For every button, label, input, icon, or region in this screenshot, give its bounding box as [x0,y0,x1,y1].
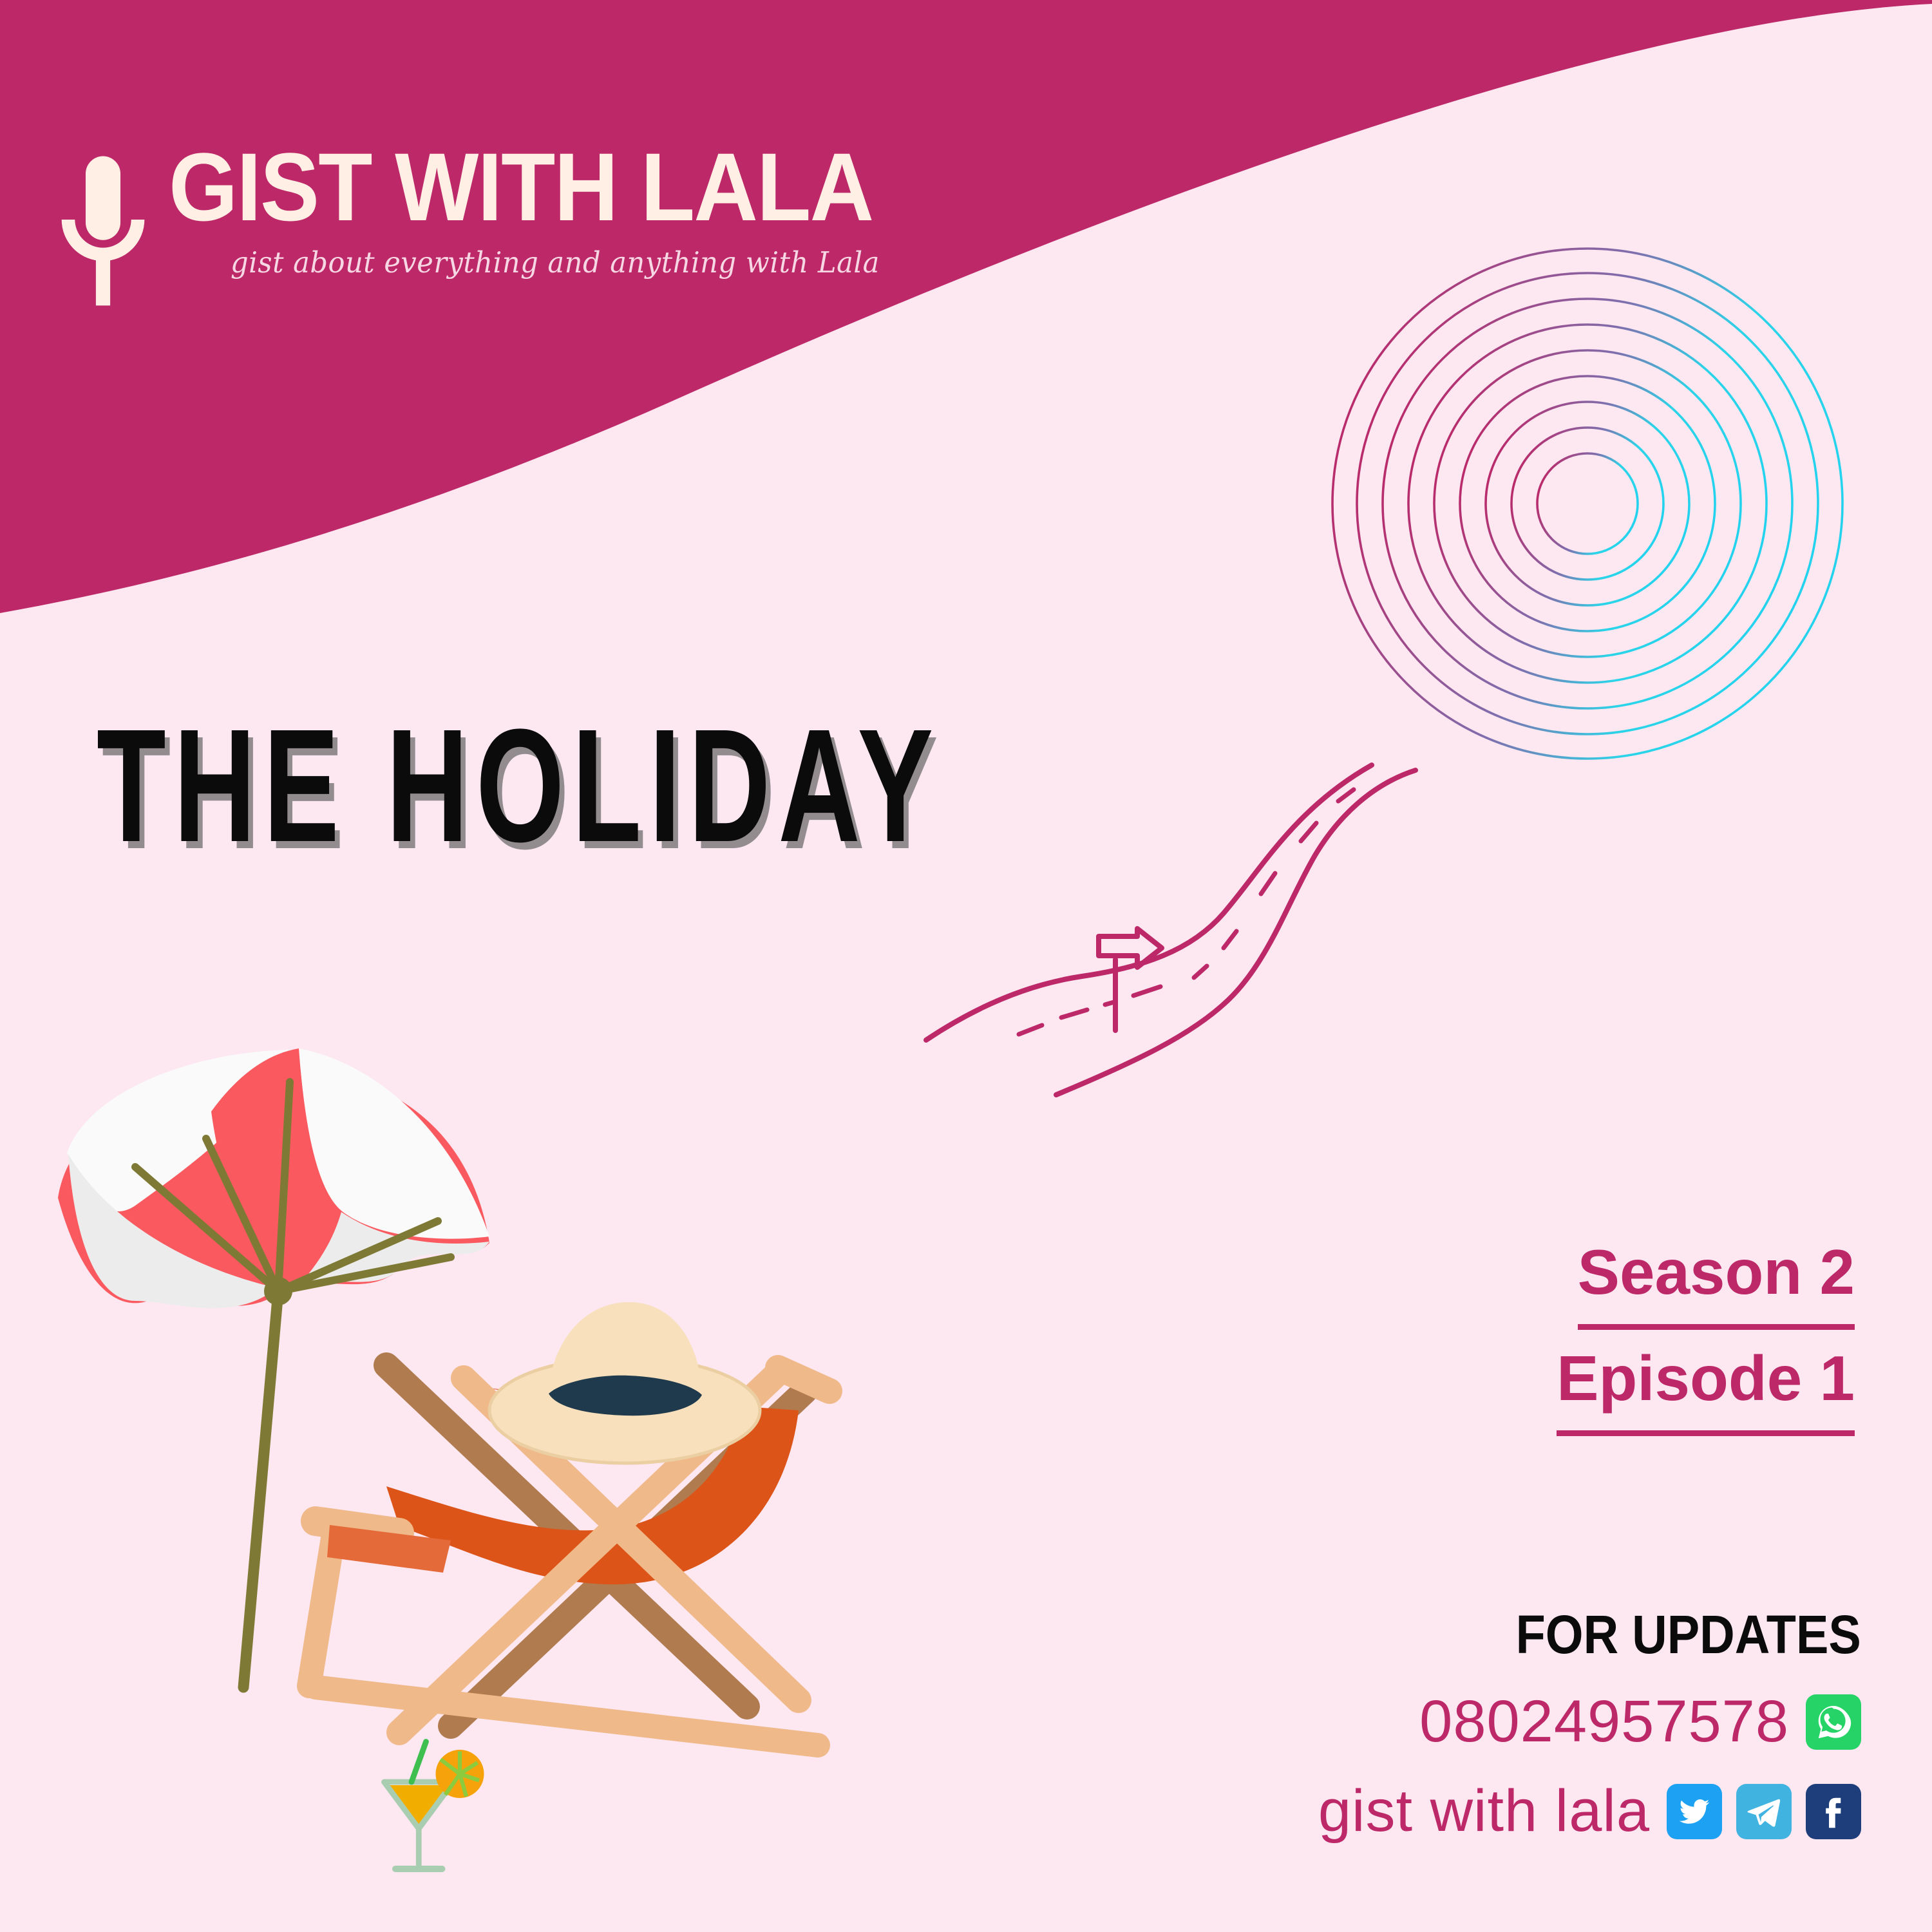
handle-row: gist with lala [0,1777,1861,1845]
season-label: Season 2 [1578,1224,1855,1330]
season-episode-block: Season 2 Episode 1 [0,1224,1855,1436]
whatsapp-icon[interactable] [1806,1694,1861,1750]
brand-logo: GIST WITH LALA gist about everything and… [52,138,934,324]
social-icon-row [1667,1784,1861,1839]
brand-tagline: gist about everything and anything with … [231,245,906,279]
episode-title: THE HOLIDAY [97,705,941,866]
contact-footer: FOR UPDATES 08024957578 gist with lala [0,1604,1861,1845]
brand-title: GIST WITH LALA [169,138,873,235]
phone-row: 08024957578 [0,1688,1861,1756]
microphone-icon [52,150,155,324]
for-updates-heading: FOR UPDATES [1516,1604,1861,1666]
twitter-icon[interactable] [1667,1784,1722,1839]
telegram-icon[interactable] [1736,1784,1792,1839]
podcast-episode-poster: GIST WITH LALA gist about everything and… [0,0,1932,1932]
facebook-icon[interactable] [1806,1784,1861,1839]
phone-number: 08024957578 [1419,1688,1789,1756]
spiral-sun-icon [1323,238,1851,766]
winding-road-illustration [921,747,1475,1108]
episode-label: Episode 1 [1557,1330,1855,1436]
social-handle: gist with lala [1318,1777,1650,1845]
